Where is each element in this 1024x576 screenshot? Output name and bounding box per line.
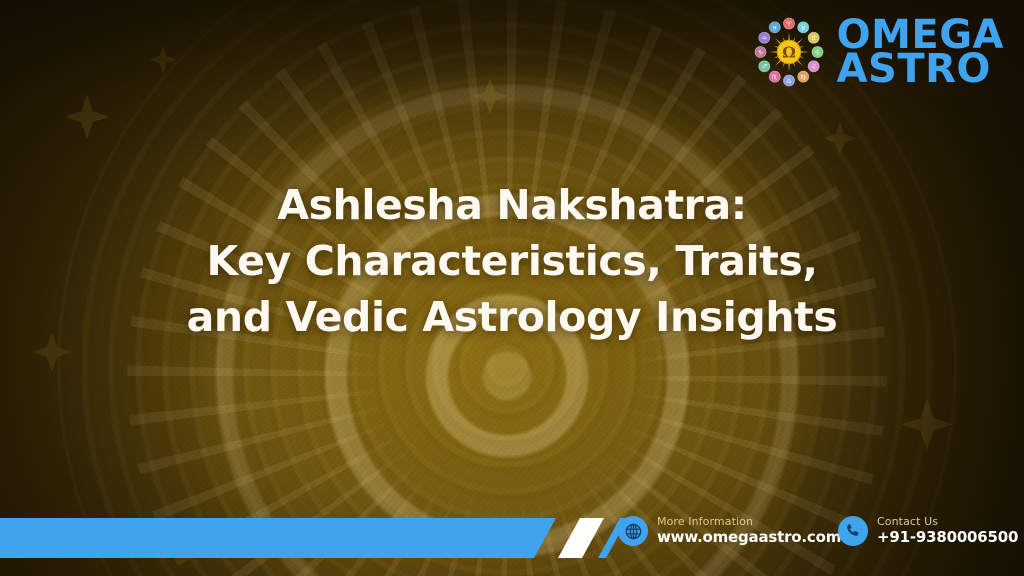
svg-text:♈: ♈ bbox=[786, 21, 792, 28]
logo-line-astro: ASTRO bbox=[837, 52, 1004, 86]
contact-info[interactable]: Contact Us +91-9380006500 bbox=[838, 516, 1018, 547]
website-info[interactable]: More Information www.omegaastro.com bbox=[618, 516, 841, 547]
footer-white-slash bbox=[558, 518, 604, 558]
footer-blue-bar bbox=[0, 518, 556, 558]
title-line-3: and Vedic Astrology Insights bbox=[40, 290, 984, 346]
title-line-2: Key Characteristics, Traits, bbox=[40, 234, 984, 290]
svg-text:♊: ♊ bbox=[811, 35, 816, 42]
svg-text:♋: ♋ bbox=[814, 49, 819, 56]
svg-text:♓: ♓ bbox=[772, 25, 777, 32]
contact-value[interactable]: +91-9380006500 bbox=[877, 529, 1018, 547]
svg-text:♏: ♏ bbox=[772, 74, 778, 81]
omega-astro-logo[interactable]: ♈♉♊♋♌♍♎♏♐♑♒♓ Ω OMEGA ASTRO bbox=[751, 14, 1004, 90]
phone-icon bbox=[838, 516, 868, 546]
svg-text:♑: ♑ bbox=[757, 49, 762, 56]
website-value[interactable]: www.omegaastro.com bbox=[657, 529, 841, 547]
sun-omega-zodiac-icon: ♈♉♊♋♌♍♎♏♐♑♒♓ Ω bbox=[751, 14, 827, 90]
svg-text:♐: ♐ bbox=[761, 64, 766, 71]
svg-text:♒: ♒ bbox=[761, 35, 766, 42]
title-line-1: Ashlesha Nakshatra: bbox=[40, 178, 984, 234]
omega-symbol: Ω bbox=[782, 44, 796, 62]
page-title: Ashlesha Nakshatra: Key Characteristics,… bbox=[0, 178, 1024, 345]
svg-text:♉: ♉ bbox=[800, 25, 805, 32]
globe-icon bbox=[618, 516, 648, 546]
svg-text:♌: ♌ bbox=[811, 64, 816, 71]
footer-bar: More Information www.omegaastro.com Cont… bbox=[0, 518, 1024, 558]
svg-text:♎: ♎ bbox=[786, 78, 791, 85]
logo-wordmark: OMEGA ASTRO bbox=[837, 18, 1004, 87]
banner-image: ♈♉♊♋♌♍♎♏♐♑♒♓ Ω OMEGA ASTRO Ashlesha Naks… bbox=[0, 0, 1024, 576]
svg-text:♍: ♍ bbox=[800, 74, 806, 81]
